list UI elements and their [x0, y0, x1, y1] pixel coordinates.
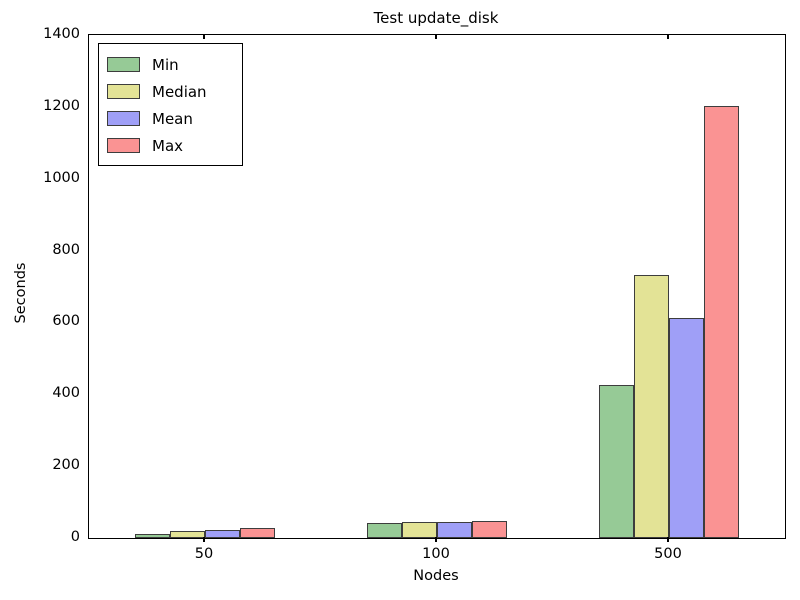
- y-tick-label: 1400: [0, 26, 80, 42]
- legend-item-mean: Mean: [99, 105, 242, 132]
- chart-figure: Test update_disk Seconds 020040060080010…: [0, 0, 800, 600]
- legend-item-min: Min: [99, 51, 242, 78]
- y-tick-label: 200: [0, 457, 80, 473]
- bar-50-median: [170, 531, 205, 538]
- x-tick-label: 500: [608, 546, 728, 562]
- bar-100-min: [367, 523, 402, 538]
- legend-swatch-mean: [107, 111, 140, 126]
- legend-label: Min: [152, 56, 179, 74]
- bar-50-mean: [205, 530, 240, 538]
- x-tick-mark: [667, 537, 668, 542]
- x-tick-mark-top: [435, 34, 436, 39]
- y-tick-label: 0: [0, 529, 80, 545]
- y-tick-label: 800: [0, 242, 80, 258]
- x-tick-mark-top: [203, 34, 204, 39]
- bar-100-median: [402, 522, 437, 538]
- bar-500-median: [634, 275, 669, 538]
- x-tick-label: 50: [144, 546, 264, 562]
- bar-50-max: [240, 528, 275, 538]
- x-tick-label: 100: [376, 546, 496, 562]
- legend-item-max: Max: [99, 132, 242, 159]
- chart-title: Test update_disk: [88, 9, 784, 27]
- x-axis-label: Nodes: [88, 568, 784, 584]
- bar-500-max: [704, 106, 739, 538]
- bar-100-max: [472, 521, 507, 538]
- legend-label: Median: [152, 83, 207, 101]
- chart-legend: MinMedianMeanMax: [98, 43, 243, 166]
- bar-500-mean: [669, 318, 704, 538]
- legend-swatch-median: [107, 84, 140, 99]
- x-tick-mark: [203, 537, 204, 542]
- legend-swatch-max: [107, 138, 140, 153]
- y-tick-label: 400: [0, 385, 80, 401]
- y-tick-label: 1200: [0, 98, 80, 114]
- bar-500-min: [599, 385, 634, 538]
- x-tick-mark-top: [667, 34, 668, 39]
- bar-100-mean: [437, 522, 472, 538]
- y-tick-label: 1000: [0, 170, 80, 186]
- x-tick-mark: [435, 537, 436, 542]
- y-tick-label: 600: [0, 313, 80, 329]
- legend-item-median: Median: [99, 78, 242, 105]
- legend-label: Max: [152, 137, 183, 155]
- bar-50-min: [135, 534, 170, 538]
- legend-label: Mean: [152, 110, 193, 128]
- legend-swatch-min: [107, 57, 140, 72]
